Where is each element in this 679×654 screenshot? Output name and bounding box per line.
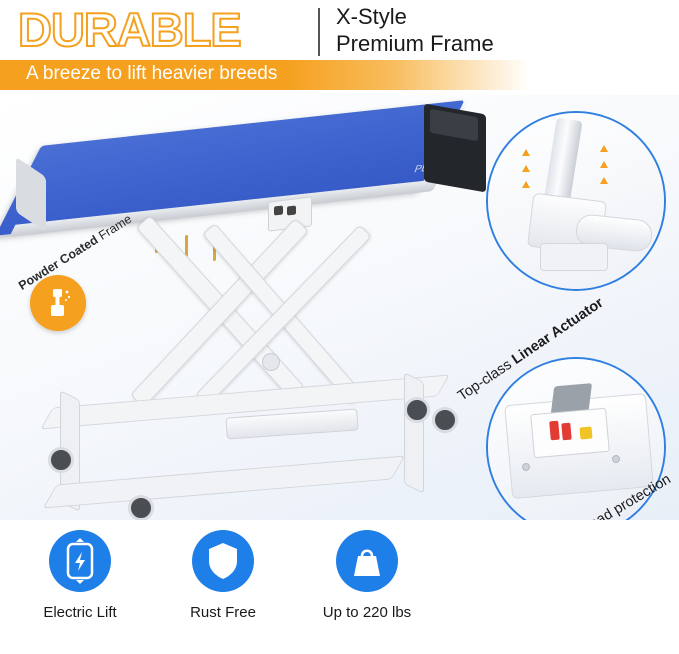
base-frame-front (43, 455, 406, 508)
scissor-pivot (262, 353, 280, 371)
electric-lift-icon (49, 530, 111, 592)
page-title: DURABLE (18, 2, 241, 57)
tagline-text: A breeze to lift heavier breeds (26, 63, 277, 85)
base-rail-right (404, 372, 424, 494)
caster-wheel (48, 447, 74, 473)
shield-icon (192, 530, 254, 592)
feature-label: Up to 220 lbs (287, 604, 447, 621)
breaker-red-switch (549, 421, 560, 441)
control-button-down (287, 205, 296, 215)
feature-label: Rust Free (143, 604, 303, 621)
arrow-up-icon (522, 149, 530, 156)
table-top-surface (0, 100, 465, 236)
product-photo: PETS (0, 95, 679, 520)
feature-rust-free: Rust Free (143, 530, 303, 621)
linear-actuator-body (225, 408, 358, 439)
arrow-up-icon (522, 181, 530, 188)
arrow-up-icon (600, 145, 608, 152)
powder-spray-icon (44, 288, 72, 318)
breaker-red-switch (561, 423, 571, 441)
subtitle-line-1: X-Style (336, 4, 407, 30)
arrow-up-icon (600, 177, 608, 184)
feature-electric-lift: Electric Lift (0, 530, 160, 621)
caster-wheel (128, 495, 154, 520)
feature-strip: Electric Lift Rust Free Up to 220 lbs (0, 520, 679, 654)
weight-icon (336, 530, 398, 592)
screw-icon (522, 463, 530, 471)
caster-wheel (432, 407, 458, 433)
subtitle-line-2: Premium Frame (336, 31, 494, 57)
feature-weight-capacity: Up to 220 lbs (287, 530, 447, 621)
control-button-up (274, 205, 283, 215)
header-banner: DURABLE X-Style Premium Frame A breeze t… (0, 0, 679, 95)
callout-label-actuator-bold: Linear Actuator (509, 295, 606, 368)
screw-icon (612, 455, 620, 463)
arrow-up-icon (600, 161, 608, 168)
arrow-up-icon (522, 165, 530, 172)
product-infographic: DURABLE X-Style Premium Frame A breeze t… (0, 0, 679, 654)
title-divider (318, 8, 320, 56)
feature-label: Electric Lift (0, 604, 160, 621)
caster-wheel (404, 397, 430, 423)
actuator-mount (540, 243, 608, 271)
callout-linear-actuator (486, 111, 666, 291)
breaker-yellow-indicator (579, 426, 592, 439)
